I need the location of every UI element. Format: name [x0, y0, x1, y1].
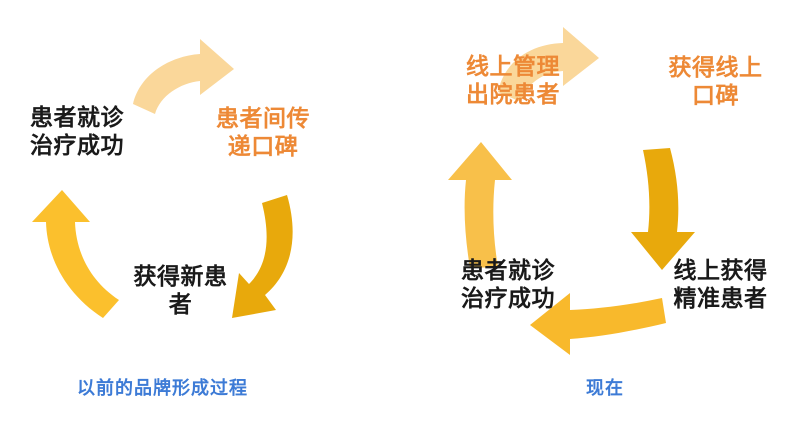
node-label-precise-patients: 线上获得 精准患者 [648, 256, 793, 312]
node-label-new-patients: 获得新患 者 [118, 262, 243, 318]
cycle-panel-now: 获得线上 口碑 线上获得 精准患者 患者就诊 治疗成功 线上管理 出院患者 现在 [400, 0, 800, 445]
arrow-left-up-icon [448, 142, 512, 268]
node-label-online-reputation: 获得线上 口碑 [648, 53, 783, 109]
panel-caption-now: 现在 [550, 374, 660, 400]
arrow-left-up-icon [32, 190, 119, 318]
node-label-manage-discharged: 线上管理 出院患者 [443, 52, 583, 108]
arrow-right-down-icon [631, 148, 695, 270]
diagram-canvas: 患者间传 递口碑 获得新患 者 患者就诊 治疗成功 以前的品牌形成过程 [0, 0, 800, 445]
node-label-visit-success: 患者就诊 治疗成功 [2, 103, 152, 159]
panel-caption-previous: 以前的品牌形成过程 [30, 374, 295, 400]
node-label-word-of-mouth: 患者间传 递口碑 [188, 104, 338, 160]
node-label-visit-success: 患者就诊 治疗成功 [438, 256, 578, 312]
cycle-panel-previous: 患者间传 递口碑 获得新患 者 患者就诊 治疗成功 以前的品牌形成过程 [0, 0, 400, 445]
